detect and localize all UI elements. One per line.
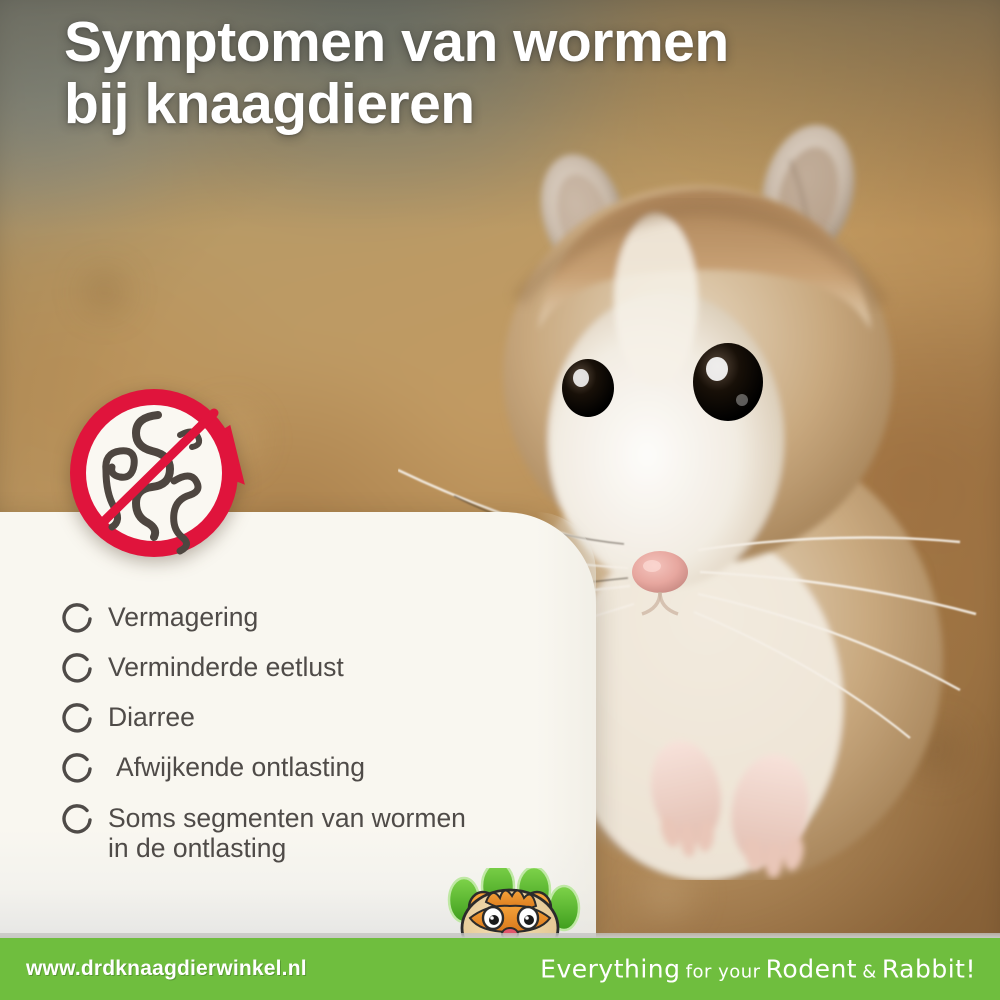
headline-line-1: Symptomen van wormen bbox=[64, 10, 729, 74]
list-item: Afwijkende ontlasting bbox=[60, 750, 580, 788]
tagline-part-4: Rabbit! bbox=[882, 955, 976, 984]
footer-tagline: Everything for your Rodent & Rabbit! bbox=[540, 955, 976, 984]
tagline-ampersand: & bbox=[862, 962, 877, 983]
list-item: Vermagering bbox=[60, 600, 580, 638]
poster-root: Symptomen van wormen bij knaagdieren bbox=[0, 0, 1000, 1000]
c-ring-bullet-icon bbox=[60, 750, 108, 788]
c-ring-bullet-icon bbox=[60, 600, 108, 638]
footer-bar: www.drdknaagdierwinkel.nl Everything for… bbox=[0, 938, 1000, 1000]
website-url[interactable]: www.drdknaagdierwinkel.nl bbox=[26, 957, 307, 981]
symptom-label: Soms segmenten van wormen in de ontlasti… bbox=[108, 801, 466, 863]
list-item: Soms segmenten van wormen in de ontlasti… bbox=[60, 801, 580, 863]
tagline-part-2: for your bbox=[686, 962, 761, 983]
poster-headline: Symptomen van wormen bij knaagdieren bbox=[64, 12, 944, 135]
symptom-label: Vermagering bbox=[108, 600, 258, 633]
symptom-label: Verminderde eetlust bbox=[108, 650, 344, 683]
list-item: Diarree bbox=[60, 700, 580, 738]
headline-line-2: bij knaagdieren bbox=[64, 74, 944, 136]
tagline-part-1: Everything bbox=[540, 955, 680, 984]
c-ring-bullet-icon bbox=[60, 801, 108, 839]
symptom-label: Diarree bbox=[108, 700, 195, 733]
list-item: Verminderde eetlust bbox=[60, 650, 580, 688]
c-ring-bullet-icon bbox=[60, 700, 108, 738]
c-ring-bullet-icon bbox=[60, 650, 108, 688]
symptoms-list: Vermagering Verminderde eetlust Diarree bbox=[60, 600, 580, 875]
tagline-part-3: Rodent bbox=[766, 955, 857, 984]
symptom-label: Afwijkende ontlasting bbox=[108, 750, 365, 783]
no-worms-badge bbox=[62, 385, 270, 560]
